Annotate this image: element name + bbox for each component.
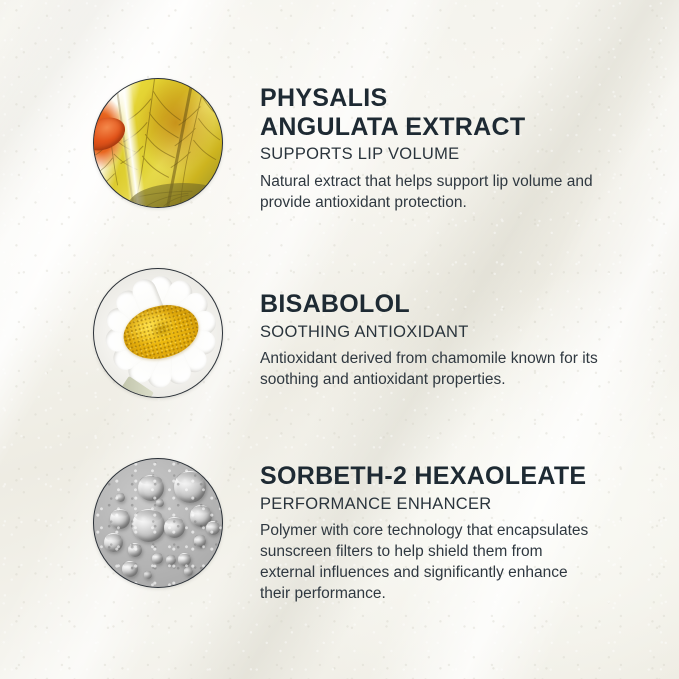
bisabolol-description: Antioxidant derived from chamomile known…	[260, 349, 620, 391]
bisabolol-title: BISABOLOL	[260, 290, 660, 319]
physalis-subtitle: SUPPORTS LIP VOLUME	[260, 145, 660, 165]
physalis-husk-photo	[93, 78, 223, 208]
ingredient-block-sorbeth: SORBETH-2 HEXAOLEATE PERFORMANCE ENHANCE…	[0, 458, 679, 588]
ingredient-block-physalis: PHYSALIS ANGULATA EXTRACT SUPPORTS LIP V…	[0, 78, 679, 208]
physalis-text-block: PHYSALIS ANGULATA EXTRACT SUPPORTS LIP V…	[260, 84, 660, 213]
bisabolol-subtitle: SOOTHING ANTIOXIDANT	[260, 323, 660, 343]
daisy-petal-ring	[102, 273, 220, 391]
microdroplet-speckle	[94, 459, 222, 587]
physalis-description: Natural extract that helps support lip v…	[260, 172, 615, 214]
polymer-microspheres-photo	[93, 458, 223, 588]
sorbeth-title: SORBETH-2 HEXAOLEATE	[260, 462, 660, 491]
bisabolol-image-wrap	[93, 268, 223, 398]
sorbeth-image-wrap	[93, 458, 223, 588]
sorbeth-subtitle: PERFORMANCE ENHANCER	[260, 495, 660, 515]
sorbeth-description: Polymer with core technology that encaps…	[260, 521, 590, 604]
bisabolol-text-block: BISABOLOL SOOTHING ANTIOXIDANT Antioxida…	[260, 290, 660, 391]
physalis-image-wrap	[93, 78, 223, 208]
physalis-title-line-2: ANGULATA EXTRACT	[260, 113, 525, 141]
sorbeth-text-block: SORBETH-2 HEXAOLEATE PERFORMANCE ENHANCE…	[260, 462, 660, 604]
chamomile-flower-photo	[93, 268, 223, 398]
ingredient-block-bisabolol: BISABOLOL SOOTHING ANTIOXIDANT Antioxida…	[0, 268, 679, 398]
physalis-title-line-1: PHYSALIS	[260, 84, 387, 112]
physalis-title: PHYSALIS ANGULATA EXTRACT	[260, 84, 660, 141]
ingredient-benefits-infographic: PHYSALIS ANGULATA EXTRACT SUPPORTS LIP V…	[0, 0, 679, 679]
